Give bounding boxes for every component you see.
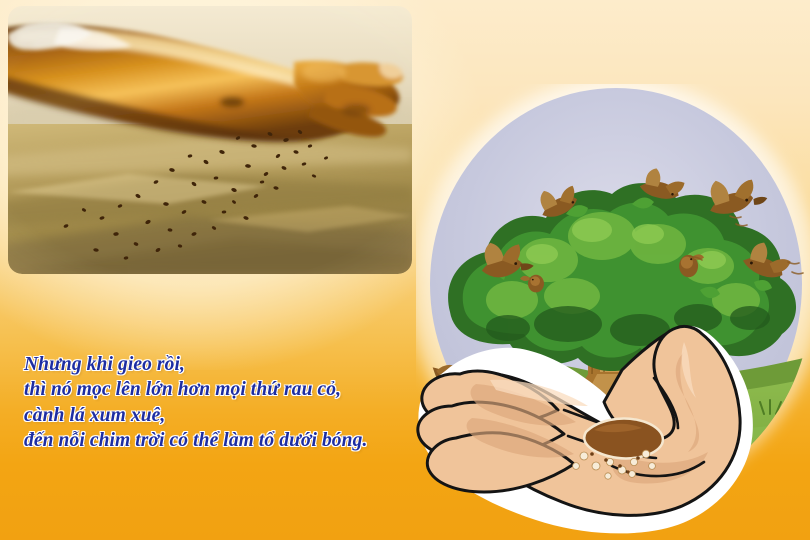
verse-line-4: đến nỗi chim trời có thể làm tổ dưới bón… [24,428,454,453]
verse-line-3: cành lá xum xuê, [24,403,454,428]
verse-line-1: Nhưng khi gieo rồi, [24,352,454,377]
tree-and-hands-illustration [416,84,810,540]
poster-canvas: Nhưng khi gieo rồi, thì nó mọc lên lớn h… [0,0,810,540]
verse-text-block: Nhưng khi gieo rồi, thì nó mọc lên lớn h… [24,352,454,453]
hand-sowing-seeds-photo [8,6,412,274]
verse-line-2: thì nó mọc lên lớn hơn mọi thứ rau cỏ, [24,377,454,402]
